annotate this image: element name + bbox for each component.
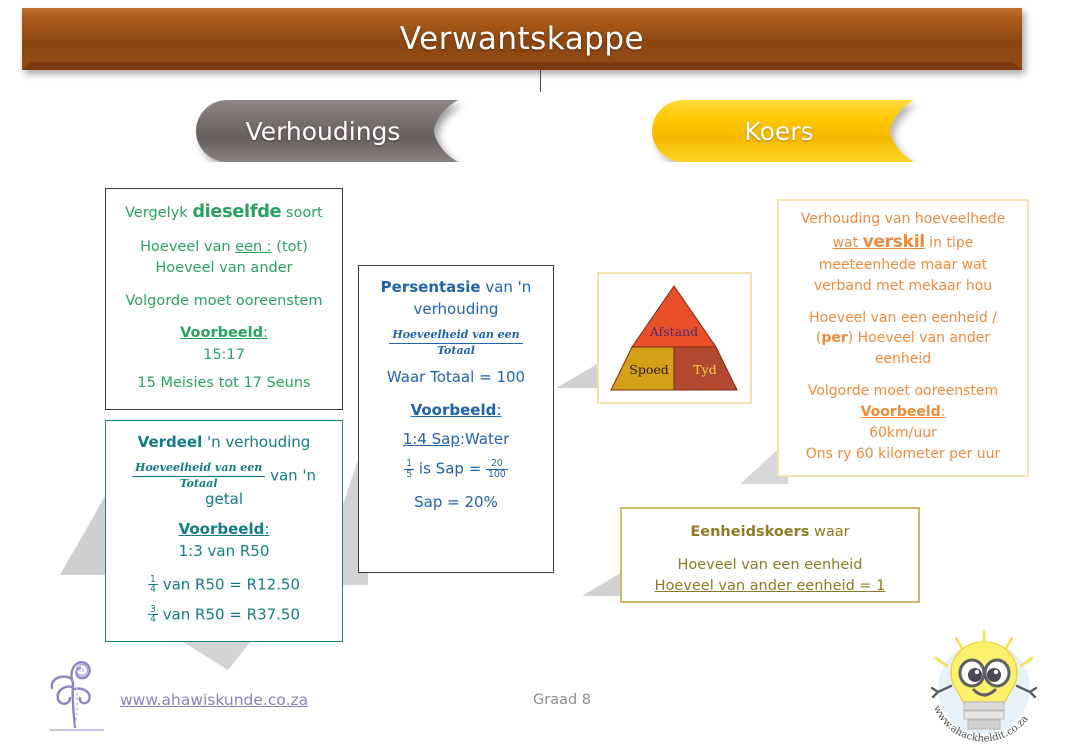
koers-l2c: in tipe — [925, 235, 974, 251]
persentasie-fraction-denominator: Totaal — [389, 343, 522, 358]
persentasie-result: Sap = 20% — [365, 493, 547, 512]
slide-canvas: Verwantskappe Verhoudings — [0, 0, 1065, 750]
koers-line-7: eenheid — [787, 351, 1019, 369]
page-title: Verwantskappe — [22, 8, 1022, 70]
verdeel-f1-num: 1 — [148, 575, 158, 584]
eenheidskoers-heading-rest: waar — [809, 524, 849, 540]
pill-verhoudings-label: Verhoudings — [196, 117, 496, 146]
footer-website-link[interactable]: www.ahawiskunde.co.za — [120, 691, 308, 709]
vergelyk-ratio: 15:17 — [114, 346, 334, 365]
koers-line-1: Verhouding van hoeveelhede — [787, 211, 1019, 229]
verdeel-voorbeeld-colon: : — [264, 520, 269, 538]
persentasie-heading-rest: van 'n — [481, 278, 532, 296]
pill-koers-label: Koers — [652, 117, 952, 146]
persentasie-emph: Persentasie — [381, 278, 481, 296]
persentasie-formula-line: Hoeveelheid van een Totaal — [365, 329, 547, 357]
koers-line-2: wat verskil in tipe — [787, 232, 1019, 254]
vergelyk-l2b-underlined: een : — [235, 239, 272, 255]
koers-example-rate: 60km/uur — [787, 425, 1019, 443]
vergelyk-voorbeeld-heading: Voorbeeld: — [114, 324, 334, 343]
verdeel-example-ratio: 1:3 van R50 — [114, 542, 334, 561]
pill-koers[interactable]: Koers — [652, 100, 952, 162]
box-verdeel-verhouding: Verdeel 'n verhouding Hoeveelheid van ee… — [105, 420, 343, 642]
eenheidskoers-emph: Eenheidskoers — [690, 524, 809, 540]
koers-line-6: (per) Hoeveel van ander — [787, 330, 1019, 348]
verdeel-voorbeeld-heading: Voorbeeld: — [114, 520, 334, 539]
persentasie-ratio-underlined: 1:4 Sap — [403, 430, 460, 448]
eenheidskoers-numerator: Hoeveel van een eenheid — [630, 556, 910, 575]
verdeel-fraction-denominator: Totaal — [132, 476, 265, 491]
persentasie-waar-totaal: Waar Totaal = 100 — [365, 368, 547, 387]
box-koers-definisie: Verhouding van hoeveelhede wat verskil i… — [777, 199, 1029, 477]
persentasie-ratio-rest: :Water — [460, 430, 509, 448]
koers-example-sentence: Ons ry 60 kilometer per uur — [787, 446, 1019, 464]
vergelyk-emph-dieselfde: dieselfde — [192, 202, 281, 222]
persentasie-voorbeeld-colon: : — [496, 401, 501, 419]
verdeel-calc-2-text: van R50 = R37.50 — [163, 605, 300, 623]
verdeel-voorbeeld-label: Voorbeeld — [179, 520, 265, 538]
koers-emph-verskil: verskil — [863, 232, 925, 252]
vergelyk-voorbeeld-colon: : — [263, 325, 268, 341]
koers-l2a: wat — [833, 235, 863, 251]
persentasie-voorbeeld-label: Voorbeeld — [411, 401, 497, 419]
vergelyk-voorbeeld-label: Voorbeeld — [180, 325, 263, 341]
box-speed-distance-time-triangle: Afstand Spoed Tyd — [597, 272, 752, 404]
triangle-label-afstand: Afstand — [649, 324, 698, 339]
eenheidskoers-denominator: Hoeveel van ander eenheid = 1 — [630, 577, 910, 596]
vergelyk-line-2: Hoeveel van een : (tot) — [114, 238, 334, 257]
triangle-label-spoed: Spoed — [629, 362, 669, 377]
koers-l6c: ) Hoeveel van ander — [848, 330, 990, 346]
tree-logo-icon — [42, 643, 110, 735]
verdeel-heading: Verdeel 'n verhouding — [114, 433, 334, 452]
persentasie-fraction-one-fifth: 1 5 — [404, 459, 414, 479]
lightbulb-logo-icon: www.ahackheldit.co.za — [918, 628, 1052, 746]
verdeel-calc-1: 1 4 van R50 = R12.50 — [114, 575, 334, 595]
persentasie-f2-den: 100 — [486, 469, 508, 479]
koers-voorbeeld-label: Voorbeeld — [861, 404, 941, 420]
vergelyk-line-3: Hoeveel van ander — [114, 259, 334, 278]
koers-line-5: Hoeveel van een eenheid / — [787, 310, 1019, 328]
persentasie-fraction-numerator: Hoeveelheid van een — [389, 329, 522, 343]
verdeel-fraction: Hoeveelheid van een Totaal — [132, 462, 265, 490]
persentasie-heading-2: verhouding — [365, 300, 547, 319]
persentasie-voorbeeld-heading: Voorbeeld: — [365, 401, 547, 420]
koers-voorbeeld-heading: Voorbeeld: — [787, 404, 1019, 422]
box-eenheidskoers: Eenheidskoers waar Hoeveel van een eenhe… — [620, 507, 920, 603]
vergelyk-l2c: (tot) — [272, 239, 308, 255]
vergelyk-l1c: soort — [281, 205, 323, 221]
box-vergelyk-dieselfde-soort: Vergelyk dieselfde soort Hoeveel van een… — [105, 188, 343, 410]
persentasie-fraction-twenty-hundredths: 20 100 — [486, 459, 508, 479]
box-persentasie-verhouding: Persentasie van 'n verhouding Hoeveelhei… — [358, 265, 554, 573]
vergelyk-line-4: Volgorde moet ooreenstem — [114, 292, 334, 311]
koers-line-4: verband met mekaar hou — [787, 278, 1019, 296]
verdeel-formula-line: Hoeveelheid van een Totaal van 'n getal — [114, 462, 334, 509]
verdeel-calc-2: 3 4 van R50 = R37.50 — [114, 605, 334, 625]
persentasie-f1-den: 5 — [404, 469, 414, 479]
triangle-diagram: Afstand Spoed Tyd — [599, 274, 750, 402]
koers-voorbeeld-colon: : — [941, 404, 946, 420]
koers-line-8: Volgorde moet ooreenstem — [787, 383, 1019, 401]
koers-line-3: meeteenhede maar wat — [787, 257, 1019, 275]
verdeel-fraction-numerator: Hoeveelheid van een — [132, 462, 265, 476]
verdeel-fraction-one-quarter: 1 4 — [148, 575, 158, 595]
triangle-label-tyd: Tyd — [693, 362, 716, 377]
koers-emph-per: per — [821, 330, 847, 346]
vergelyk-l2a: Hoeveel van — [140, 239, 235, 255]
verdeel-f2-num: 3 — [148, 605, 158, 614]
vergelyk-example-sentence: 15 Meisies tot 17 Seuns — [114, 374, 334, 393]
vergelyk-l1a: Vergelyk — [125, 205, 192, 221]
pill-verhoudings[interactable]: Verhoudings — [196, 100, 496, 162]
footer-grade-label: Graad 8 — [533, 692, 591, 708]
verdeel-heading-rest: 'n verhouding — [202, 433, 310, 451]
title-banner: Verwantskappe — [22, 8, 1022, 70]
verdeel-emph-verdeel: Verdeel — [138, 433, 203, 451]
persentasie-f1-num: 1 — [404, 459, 414, 468]
verdeel-f2-den: 4 — [148, 614, 158, 624]
persentasie-heading: Persentasie van 'n — [365, 278, 547, 297]
persentasie-fraction: Hoeveelheid van een Totaal — [389, 329, 522, 357]
vergelyk-line-1: Vergelyk dieselfde soort — [114, 201, 334, 224]
verdeel-fraction-three-quarters: 3 4 — [148, 605, 158, 625]
eenheidskoers-heading: Eenheidskoers waar — [630, 523, 910, 542]
verdeel-f1-den: 4 — [148, 584, 158, 594]
persentasie-example-ratio: 1:4 Sap:Water — [365, 430, 547, 449]
banner-connector-line — [540, 70, 541, 92]
persentasie-calc-text: is Sap = — [419, 460, 481, 478]
persentasie-f2-num: 20 — [486, 459, 508, 468]
persentasie-calc: 1 5 is Sap = 20 100 — [365, 459, 547, 479]
verdeel-calc-1-text: van R50 = R12.50 — [163, 575, 300, 593]
